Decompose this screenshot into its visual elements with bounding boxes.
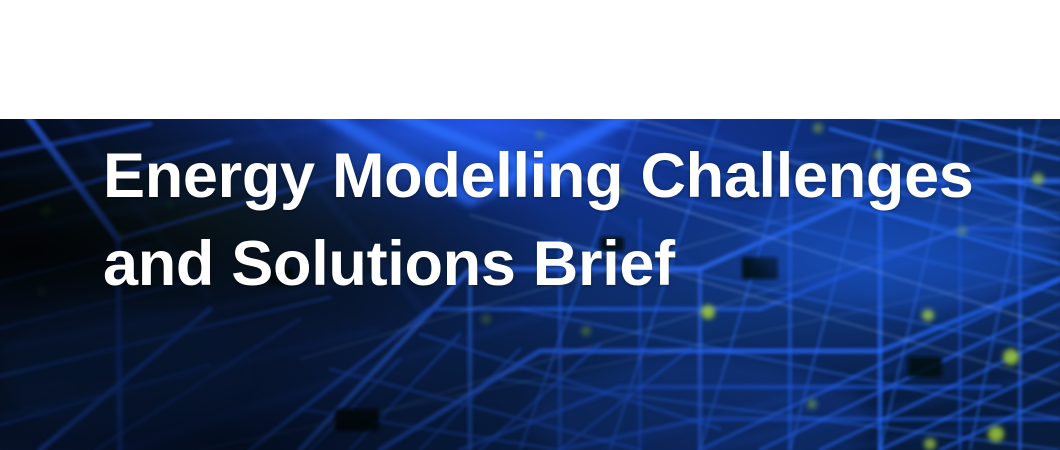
hero-banner: Energy Modelling Challenges and Solution… xyxy=(0,119,1060,450)
hero-text-block: Energy Modelling Challenges and Solution… xyxy=(103,119,1003,450)
top-white-band xyxy=(0,0,1060,119)
page-title: Energy Modelling Challenges and Solution… xyxy=(103,132,974,308)
page-root: Energy Modelling Challenges and Solution… xyxy=(0,0,1060,450)
